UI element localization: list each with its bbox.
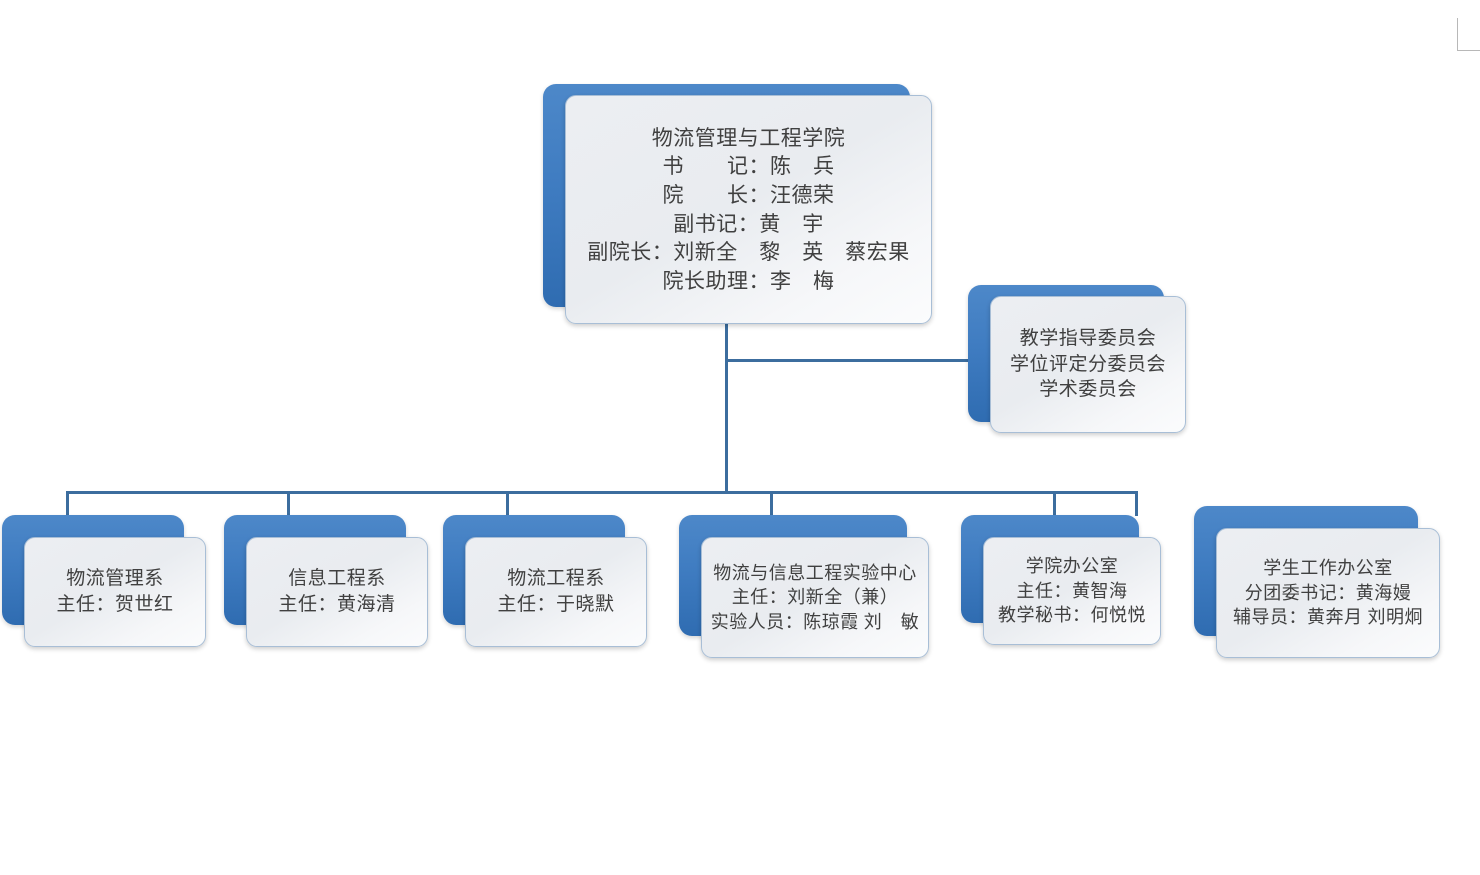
connector-drop-1 [66, 491, 69, 516]
node-committee[interactable]: 教学指导委员会 学位评定分委员会 学术委员会 [968, 285, 1188, 445]
node-line: 学位评定分委员会 [1010, 352, 1166, 378]
connector-drop-3 [506, 491, 509, 516]
connector-drop-5 [1053, 491, 1056, 516]
node-line: 辅导员：黄奔月 刘明炯 [1233, 605, 1423, 629]
node-logistics-engineering-department[interactable]: 物流工程系 主任：于晓默 [443, 515, 648, 647]
connector-to-committee [725, 359, 991, 362]
node-front-plate: 物流管理与工程学院 书 记：陈 兵 院 长：汪德荣 副书记：黄 宇 副院长：刘新… [565, 95, 932, 324]
node-front-plate: 物流与信息工程实验中心 主任：刘新全（兼） 实验人员：陈琼霞 刘 敏 [701, 537, 929, 658]
node-line: 教学指导委员会 [1020, 326, 1157, 352]
org-chart-canvas: 物流管理与工程学院 书 记：陈 兵 院 长：汪德荣 副书记：黄 宇 副院长：刘新… [0, 0, 1480, 875]
connector-drop-6 [1135, 491, 1138, 516]
connector-root-trunk [725, 320, 728, 494]
node-front-plate: 物流管理系 主任：贺世红 [24, 537, 206, 647]
node-logistics-information-engineering-lab-center[interactable]: 物流与信息工程实验中心 主任：刘新全（兼） 实验人员：陈琼霞 刘 敏 [679, 515, 929, 658]
node-line: 物流管理系 [66, 566, 164, 592]
node-line: 主任：刘新全（兼） [732, 585, 899, 609]
page-border-vertical-artifact [1457, 18, 1458, 51]
node-line: 学生工作办公室 [1263, 556, 1393, 580]
node-front-plate: 物流工程系 主任：于晓默 [465, 537, 647, 647]
node-line: 主任：贺世红 [56, 592, 173, 618]
node-line: 教学秘书：何悦悦 [998, 603, 1146, 627]
node-line: 院长助理：李 梅 [663, 267, 835, 296]
node-line: 副院长：刘新全 黎 英 蔡宏果 [587, 238, 910, 267]
node-logistics-management-department[interactable]: 物流管理系 主任：贺世红 [2, 515, 207, 647]
node-line: 分团委书记：黄海嫚 [1245, 581, 1412, 605]
node-root-college[interactable]: 物流管理与工程学院 书 记：陈 兵 院 长：汪德荣 副书记：黄 宇 副院长：刘新… [543, 84, 933, 326]
node-college-office[interactable]: 学院办公室 主任：黄智海 教学秘书：何悦悦 [961, 515, 1161, 645]
node-line: 物流管理与工程学院 [652, 124, 846, 153]
node-student-affairs-office[interactable]: 学生工作办公室 分团委书记：黄海嫚 辅导员：黄奔月 刘明炯 [1194, 506, 1440, 658]
node-front-plate: 教学指导委员会 学位评定分委员会 学术委员会 [990, 296, 1186, 433]
connector-drop-2 [287, 491, 290, 516]
node-line: 学院办公室 [1026, 554, 1119, 578]
node-line: 物流工程系 [507, 566, 605, 592]
node-information-engineering-department[interactable]: 信息工程系 主任：黄海清 [224, 515, 429, 647]
connector-drop-4 [770, 491, 773, 516]
page-border-horizontal-artifact [1457, 50, 1480, 51]
node-line: 实验人员：陈琼霞 刘 敏 [711, 610, 920, 634]
node-line: 书 记：陈 兵 [663, 152, 835, 181]
node-front-plate: 学生工作办公室 分团委书记：黄海嫚 辅导员：黄奔月 刘明炯 [1216, 528, 1440, 658]
node-front-plate: 信息工程系 主任：黄海清 [246, 537, 428, 647]
node-line: 物流与信息工程实验中心 [713, 561, 917, 585]
node-line: 主任：于晓默 [497, 592, 614, 618]
node-line: 院 长：汪德荣 [663, 181, 835, 210]
connector-bus [66, 491, 1138, 494]
node-front-plate: 学院办公室 主任：黄智海 教学秘书：何悦悦 [983, 537, 1161, 645]
node-line: 副书记：黄 宇 [673, 210, 824, 239]
node-line: 学术委员会 [1039, 377, 1137, 403]
node-line: 信息工程系 [288, 566, 386, 592]
node-line: 主任：黄智海 [1017, 579, 1128, 603]
node-line: 主任：黄海清 [278, 592, 395, 618]
